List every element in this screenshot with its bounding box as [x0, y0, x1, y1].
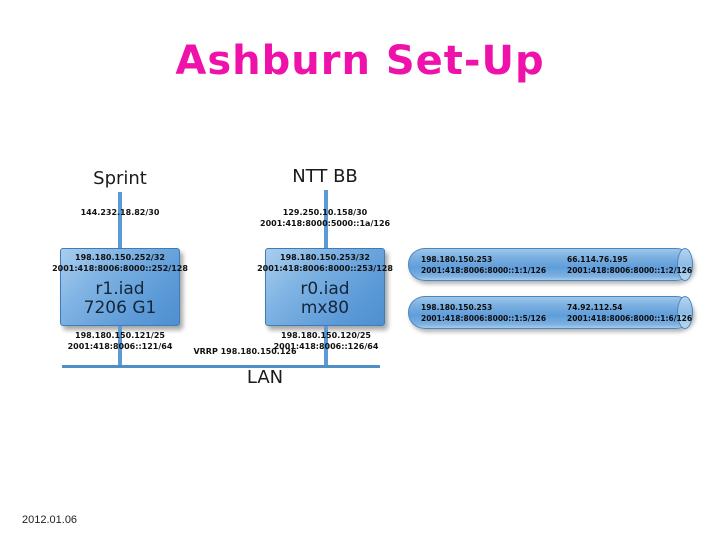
- router-model-r0: mx80: [300, 299, 349, 318]
- provider-label-sprint: Sprint: [60, 168, 180, 189]
- lan-label: LAN: [205, 367, 325, 388]
- cylinder-2-right-v4: 74.92.112.54: [567, 303, 692, 314]
- link-detail-cylinder-2[interactable]: 198.180.150.253 2001:418:8006:8000::1:5/…: [408, 296, 693, 329]
- router-name-block-r0: r0.iad mx80: [300, 280, 349, 318]
- link-label-ntt-v6: 2001:418:8000:5000::1a/126: [260, 219, 390, 230]
- router-hostname-r1: r1.iad: [84, 280, 157, 299]
- router-hostname-r0: r0.iad: [300, 280, 349, 299]
- connector-sprint-to-r1: [118, 192, 122, 248]
- lan-label-r1-v6: 2001:418:8006::121/64: [56, 342, 184, 353]
- cylinder-1-right-v4: 66.114.76.195: [567, 255, 692, 266]
- router-loopback-v4-r0: 198.180.150.253/32: [257, 253, 393, 264]
- cylinder-2-right-endpoint: 74.92.112.54 2001:418:8006:8000::1:6/126: [567, 303, 692, 325]
- cylinder-1-right-v6: 2001:418:8006:8000::1:2/126: [567, 266, 692, 277]
- link-label-ntt-v4: 129.250.10.158/30: [260, 208, 390, 219]
- provider-label-ntt: NTT BB: [265, 166, 385, 187]
- router-loopback-v4-r1: 198.180.150.252/32: [52, 253, 188, 264]
- link-detail-cylinder-1[interactable]: 198.180.150.253 2001:418:8006:8000::1:1/…: [408, 248, 693, 281]
- page-title: Ashburn Set-Up: [0, 38, 720, 84]
- router-model-r1: 7206 G1: [84, 299, 157, 318]
- router-loopback-v6-r0: 2001:418:8006:8000::253/128: [257, 264, 393, 275]
- router-node-r0-iad[interactable]: 198.180.150.253/32 2001:418:8006:8000::2…: [265, 248, 385, 326]
- cylinder-1-left-endpoint: 198.180.150.253 2001:418:8006:8000::1:1/…: [421, 255, 546, 277]
- link-label-sprint: 144.232.18.82/30: [58, 208, 182, 219]
- cylinder-2-right-v6: 2001:418:8006:8000::1:6/126: [567, 314, 692, 325]
- router-node-r1-iad[interactable]: 198.180.150.252/32 2001:418:8006:8000::2…: [60, 248, 180, 326]
- footer-date: 2012.01.06: [22, 514, 77, 526]
- vrrp-label: VRRP 198.180.150.126: [180, 347, 310, 358]
- router-loopback-v6-r1: 2001:418:8006:8000::252/128: [52, 264, 188, 275]
- link-label-sprint-v4: 144.232.18.82/30: [58, 208, 182, 219]
- lan-label-r1: 198.180.150.121/25 2001:418:8006::121/64: [56, 331, 184, 353]
- cylinder-1-left-v6: 2001:418:8006:8000::1:1/126: [421, 266, 546, 277]
- router-loopback-r0: 198.180.150.253/32 2001:418:8006:8000::2…: [257, 253, 393, 275]
- cylinder-2-left-v4: 198.180.150.253: [421, 303, 546, 314]
- lan-label-r0-v4: 198.180.150.120/25: [262, 331, 390, 342]
- router-loopback-r1: 198.180.150.252/32 2001:418:8006:8000::2…: [52, 253, 188, 275]
- cylinder-2-left-v6: 2001:418:8006:8000::1:5/126: [421, 314, 546, 325]
- router-name-block-r1: r1.iad 7206 G1: [84, 280, 157, 318]
- link-label-ntt: 129.250.10.158/30 2001:418:8000:5000::1a…: [260, 208, 390, 230]
- lan-label-r1-v4: 198.180.150.121/25: [56, 331, 184, 342]
- cylinder-2-left-endpoint: 198.180.150.253 2001:418:8006:8000::1:5/…: [421, 303, 546, 325]
- cylinder-1-right-endpoint: 66.114.76.195 2001:418:8006:8000::1:2/12…: [567, 255, 692, 277]
- slide-canvas: Ashburn Set-Up Sprint 144.232.18.82/30 N…: [0, 0, 720, 540]
- cylinder-1-left-v4: 198.180.150.253: [421, 255, 546, 266]
